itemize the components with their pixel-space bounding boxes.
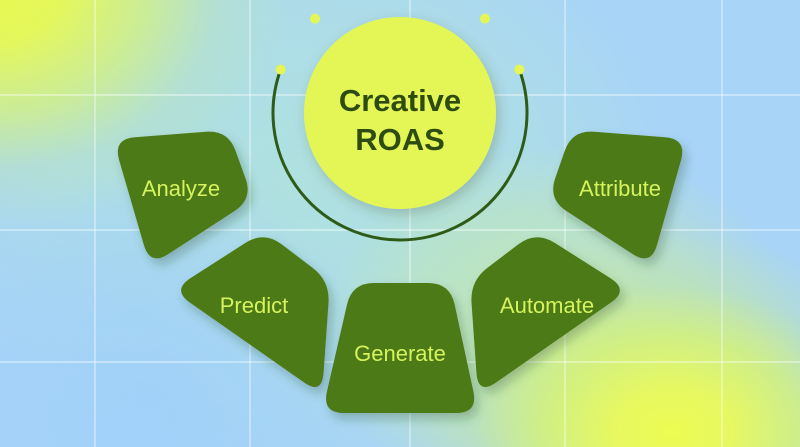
petal-attribute[interactable]: Attribute: [553, 132, 682, 259]
arc-dot: [514, 65, 524, 75]
arc-dot: [276, 65, 286, 75]
petal-generate[interactable]: Generate: [326, 283, 474, 413]
petal-analyze[interactable]: Analyze: [118, 132, 248, 259]
diagram-artwork: AnalyzePredictGenerateAutomateAttribute …: [0, 0, 800, 447]
petal-predict[interactable]: Predict: [181, 237, 328, 387]
petal-label-attribute: Attribute: [579, 176, 661, 201]
petal-label-analyze: Analyze: [142, 176, 220, 201]
infographic-canvas: AnalyzePredictGenerateAutomateAttribute …: [0, 0, 800, 447]
petal-label-automate: Automate: [500, 293, 594, 318]
arc-dot: [310, 14, 320, 24]
hub-title-line2: ROAS: [355, 122, 445, 157]
hub-circle-group[interactable]: Creative ROAS: [304, 17, 496, 209]
petal-label-generate: Generate: [354, 341, 446, 366]
petal-label-predict: Predict: [220, 293, 288, 318]
hub-title-line1: Creative: [339, 83, 461, 118]
arc-dot: [480, 14, 490, 24]
petal-automate[interactable]: Automate: [471, 237, 619, 387]
